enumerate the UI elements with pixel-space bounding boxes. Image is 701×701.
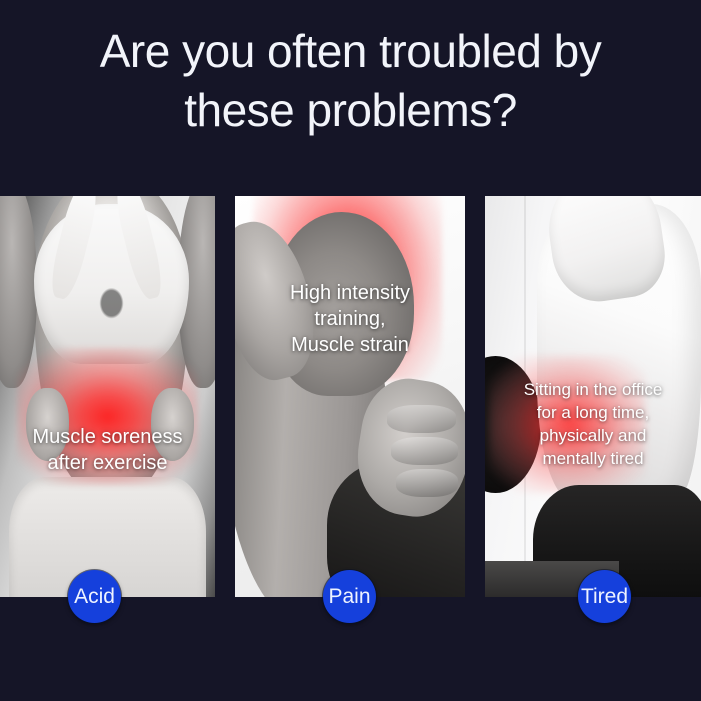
panel-acid[interactable]: Muscle soreness after exercise	[0, 196, 215, 597]
photo-lower-back	[0, 196, 215, 597]
badge-acid[interactable]: Acid	[68, 570, 121, 623]
page-title: Are you often troubled by these problems…	[0, 22, 701, 140]
pain-glow-icon	[489, 356, 645, 492]
panel-tired[interactable]: Sitting in the office for a long time, p…	[485, 196, 701, 597]
panel-pain[interactable]: High intensity training, Muscle strain	[235, 196, 465, 597]
photo-shoulder-grip	[235, 196, 465, 597]
photo-office-worker	[485, 196, 701, 597]
badge-tired[interactable]: Tired	[578, 570, 631, 623]
badge-pain[interactable]: Pain	[323, 570, 376, 623]
problem-panels: Muscle soreness after exercise High inte…	[0, 196, 701, 597]
